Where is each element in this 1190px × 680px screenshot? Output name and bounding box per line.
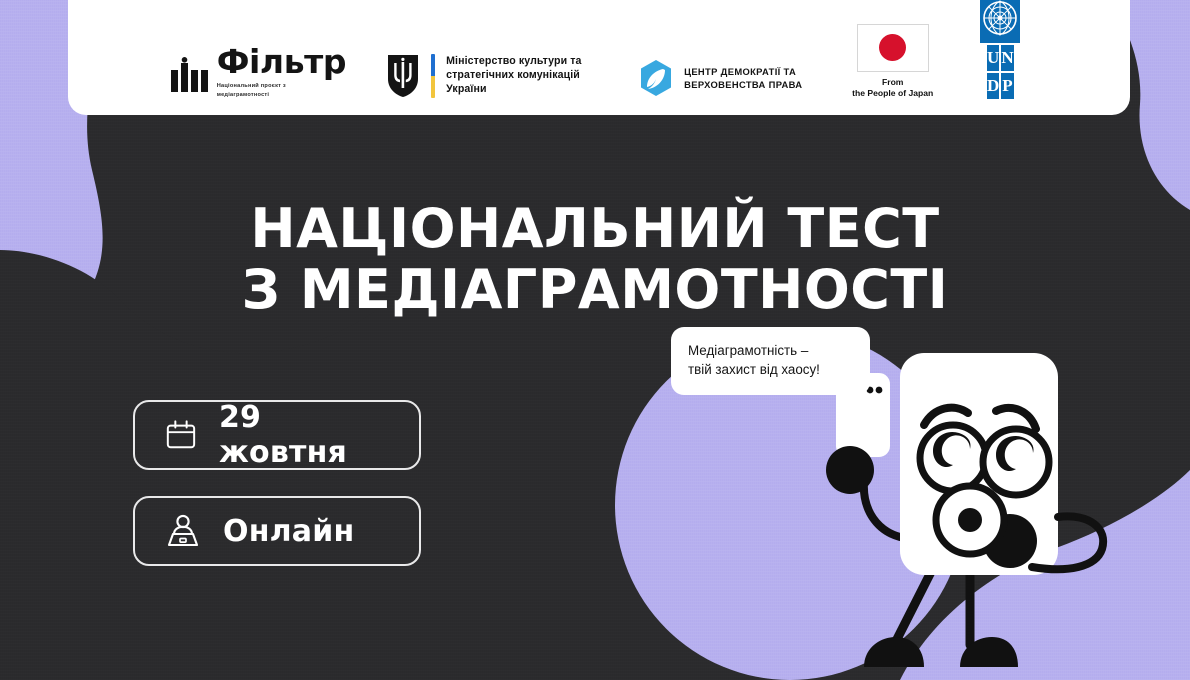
filtr-tagline: Національний проєкт з медіаграмотності — [217, 82, 322, 99]
mascot-left-hand — [826, 446, 874, 494]
un-emblem-icon — [980, 0, 1020, 43]
event-info-badges: 29 жовтня Онлайн — [133, 400, 421, 566]
calendar-icon — [165, 418, 197, 452]
feather-hexagon-icon — [638, 59, 674, 99]
logo-filtr: Фільтр Національний проєкт з медіаграмот… — [171, 45, 346, 99]
badge-format-label: Онлайн — [223, 514, 354, 549]
undp-letter-p: P — [1001, 73, 1013, 99]
ukraine-trident-icon — [386, 53, 420, 99]
page-title-line1: НАЦІОНАЛЬНИЙ ТЕСТ — [250, 197, 939, 260]
badge-format[interactable]: Онлайн — [133, 496, 421, 566]
badge-date[interactable]: 29 жовтня — [133, 400, 421, 470]
person-laptop-icon — [165, 514, 201, 548]
logo-ministry-of-culture: Міністерство культури та стратегічних ко… — [386, 53, 598, 99]
filtr-wordmark: Фільтр — [217, 45, 346, 78]
japan-caption-line1: From — [882, 77, 903, 87]
speech-bubble-line1: Медіаграмотність – — [688, 343, 808, 358]
speech-bubble-line2: твій захист від хаосу! — [688, 362, 820, 377]
logo-cedem: ЦЕНТР ДЕМОКРАТІЇ ТА ВЕРХОВЕНСТВА ПРАВА — [638, 59, 812, 99]
mascot-legs — [893, 570, 970, 647]
ministry-name: Міністерство культури та стратегічних ко… — [446, 55, 598, 97]
ukraine-flag-bar — [431, 54, 435, 98]
filtr-mark-icon — [171, 57, 208, 99]
mascot-feet — [864, 637, 1018, 667]
partner-logo-bar: Фільтр Національний проєкт з медіаграмот… — [68, 0, 1130, 115]
badge-date-label: 29 жовтня — [219, 400, 389, 470]
undp-letter-n: N — [1001, 45, 1013, 71]
japan-caption: From the People of Japan — [852, 77, 933, 99]
japan-flag-icon — [857, 24, 929, 72]
media-literacy-mascot — [820, 345, 1150, 680]
cedem-name: ЦЕНТР ДЕМОКРАТІЇ ТА ВЕРХОВЕНСТВА ПРАВА — [684, 66, 812, 92]
speech-bubble: Медіаграмотність – твій захист від хаосу… — [671, 327, 870, 395]
logo-undp: U N D P — [973, 0, 1027, 99]
page-title-line2: З МЕДІАГРАМОТНОСТІ — [0, 259, 1190, 320]
page-title: НАЦІОНАЛЬНИЙ ТЕСТ З МЕДІАГРАМОТНОСТІ — [0, 198, 1190, 320]
logo-japan: From the People of Japan — [852, 24, 933, 99]
undp-letter-d: D — [987, 73, 999, 99]
undp-letter-u: U — [987, 45, 999, 71]
poster: Фільтр Національний проєкт з медіаграмот… — [0, 0, 1190, 680]
japan-caption-line2: the People of Japan — [852, 88, 933, 98]
